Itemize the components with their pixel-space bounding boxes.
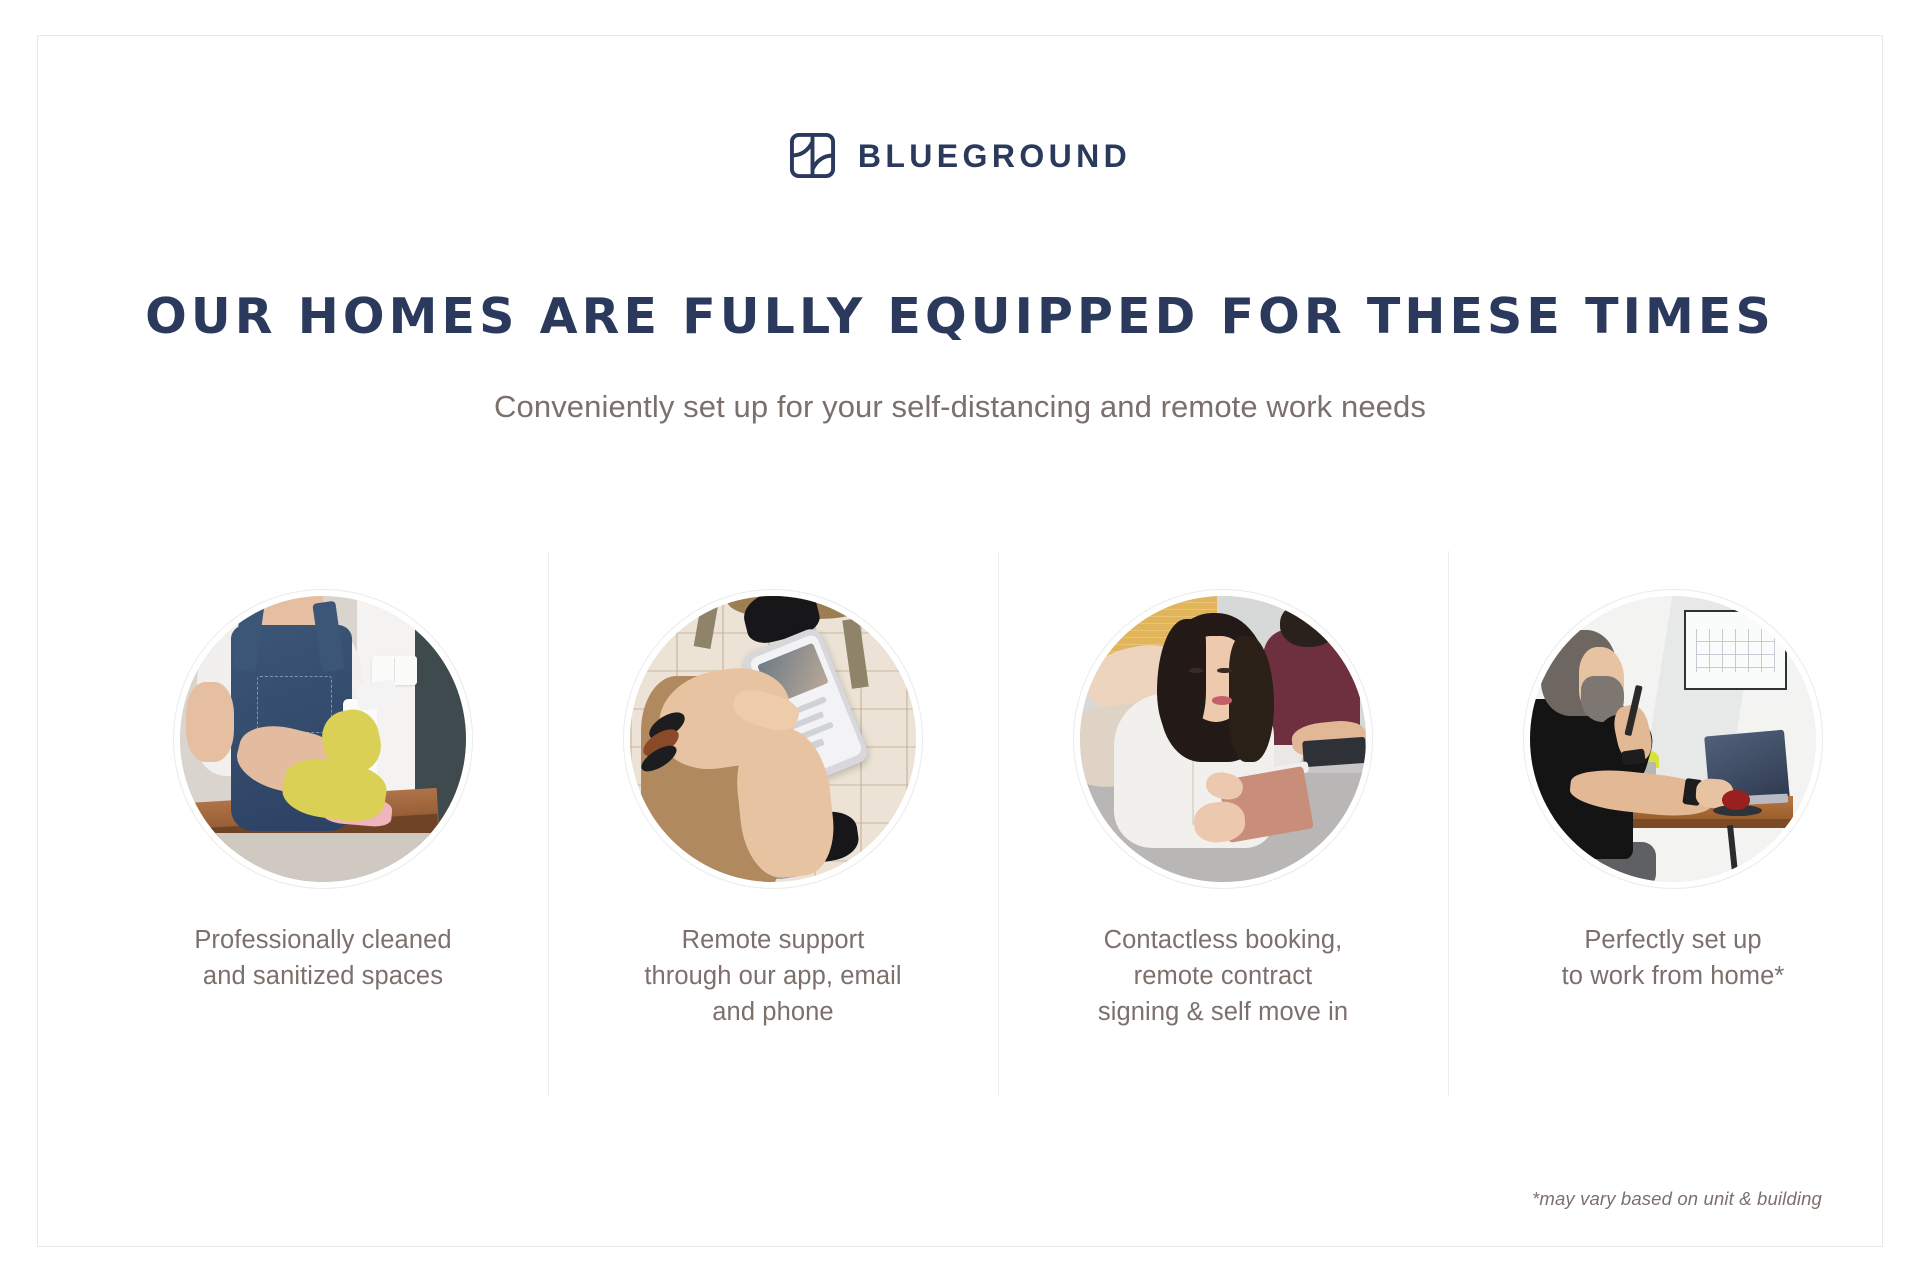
- feature-caption: Contactless booking, remote contract sig…: [1098, 922, 1348, 1031]
- feature-columns: Professionally cleaned and sanitized spa…: [98, 551, 1898, 1096]
- feature-caption: Remote support through our app, email an…: [644, 922, 901, 1031]
- feature-column-remote-support: Remote support through our app, email an…: [548, 551, 998, 1096]
- feature-column-contactless-booking: Contactless booking, remote contract sig…: [998, 551, 1448, 1096]
- feature-image-frame: [173, 589, 473, 889]
- work-from-home-photo: [1530, 596, 1816, 882]
- feature-column-cleaning: Professionally cleaned and sanitized spa…: [98, 551, 548, 1096]
- feature-column-work-from-home: Perfectly set up to work from home*: [1448, 551, 1898, 1096]
- content-frame: BLUEGROUND OUR HOMES ARE FULLY EQUIPPED …: [37, 35, 1883, 1247]
- feature-caption: Perfectly set up to work from home*: [1562, 922, 1785, 994]
- page-title: OUR HOMES ARE FULLY EQUIPPED FOR THESE T…: [38, 291, 1882, 343]
- feature-image-frame: [1073, 589, 1373, 889]
- marketing-infographic-page: BLUEGROUND OUR HOMES ARE FULLY EQUIPPED …: [0, 0, 1920, 1280]
- brand-wordmark: BLUEGROUND: [858, 140, 1131, 172]
- tablet-booking-photo: [1080, 596, 1366, 882]
- feature-caption: Professionally cleaned and sanitized spa…: [194, 922, 451, 994]
- phone-app-photo: [630, 596, 916, 882]
- footnote-disclaimer: *may vary based on unit & building: [1532, 1188, 1822, 1210]
- feature-image-frame: [1523, 589, 1823, 889]
- feature-image-frame: [623, 589, 923, 889]
- cleaning-photo: [180, 596, 466, 882]
- brand-logo: BLUEGROUND: [38, 132, 1882, 179]
- page-subtitle: Conveniently set up for your self-distan…: [38, 388, 1882, 425]
- blueground-square-logo-icon: [789, 132, 836, 179]
